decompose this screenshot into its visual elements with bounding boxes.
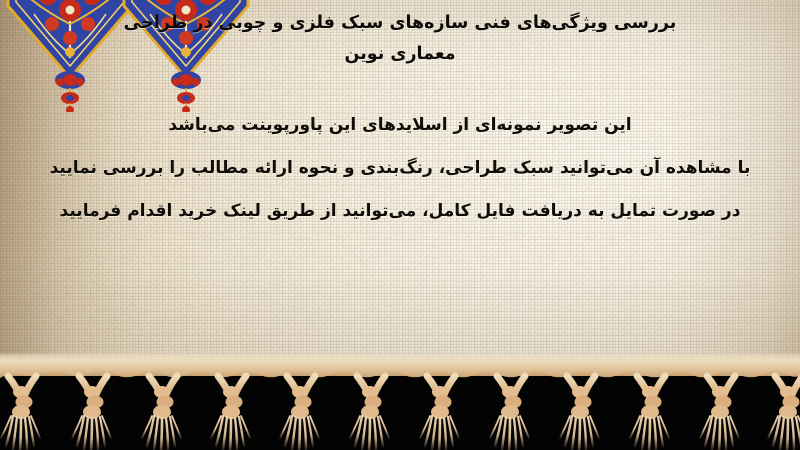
slide-body: این تصویر نمونه‌ای از اسلایدهای این پاور…	[0, 104, 800, 233]
slide-title: بررسی ویژگی‌های فنی سازه‌های سبک فلزی و …	[0, 8, 800, 70]
presentation-slide: بررسی ویژگی‌های فنی سازه‌های سبک فلزی و …	[0, 0, 800, 450]
body-line-2: با مشاهده آن می‌توانید سبک طراحی، رنگ‌بن…	[0, 147, 800, 190]
body-line-3: در صورت تمایل به دریافت فایل کامل، می‌تو…	[0, 190, 800, 233]
slide-title-line-1: بررسی ویژگی‌های فنی سازه‌های سبک فلزی و …	[124, 13, 677, 33]
body-line-1: این تصویر نمونه‌ای از اسلایدهای این پاور…	[0, 104, 800, 147]
slide-title-line-2: معماری نوین	[0, 39, 800, 70]
carpet-tassel-fringe	[0, 352, 800, 450]
